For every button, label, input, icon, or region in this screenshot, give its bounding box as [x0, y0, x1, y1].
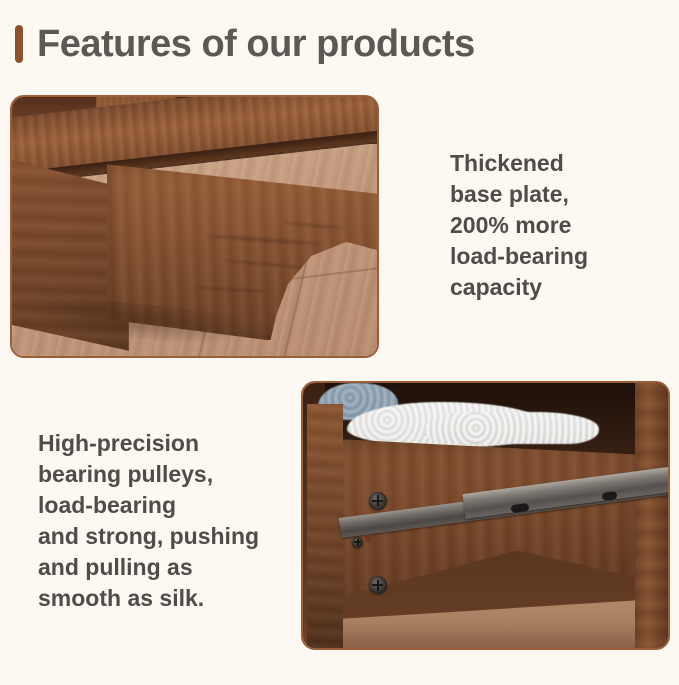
base-plate-photo-content — [12, 97, 377, 356]
feature-caption-drawer-slide: High-precision bearing pulleys, load-bea… — [38, 428, 298, 614]
drawer-slide-photo-content — [303, 383, 668, 648]
cabinet-right-stile — [635, 383, 668, 648]
wood-grain — [194, 286, 270, 293]
wood-grain — [206, 234, 323, 246]
wood-grain — [282, 221, 346, 230]
cabinet-left-stile — [307, 404, 344, 648]
accent-bar-icon — [15, 25, 23, 63]
screw-icon — [369, 492, 387, 510]
towel-white-secondary — [423, 412, 598, 444]
feature-caption-base-plate: Thickened base plate, 200% more load-bea… — [450, 148, 665, 303]
screw-icon — [352, 537, 363, 548]
feature-image-drawer-slide — [301, 381, 670, 650]
feature-image-base-plate — [10, 95, 379, 358]
page-header: Features of our products — [15, 22, 475, 66]
page-title: Features of our products — [37, 25, 475, 63]
wood-grain — [224, 259, 312, 270]
